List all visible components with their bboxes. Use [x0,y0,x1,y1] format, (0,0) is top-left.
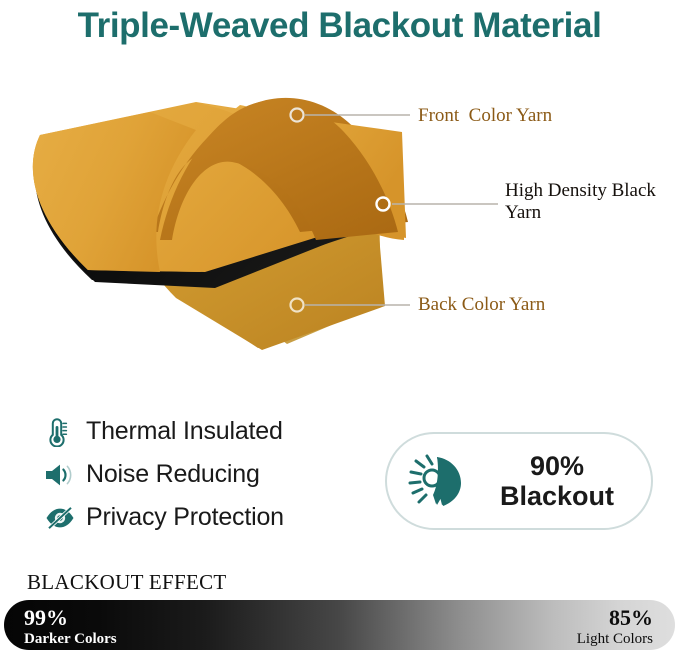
label-front-color-yarn: Front Color Yarn [418,105,552,127]
feature-label-thermal-insulated: Thermal Insulated [86,417,283,446]
feature-privacy-protection: Privacy Protection [44,496,374,539]
sun-blocked-icon [387,450,479,512]
light-colors-percent: 85% [609,605,653,630]
blackout-effect-gradient-bar: 99% Darker Colors 85% Light Colors [4,600,675,650]
blackout-percent: 90% [530,451,584,481]
light-colors-label: Light Colors [577,631,653,647]
blackout-word: Blackout [500,481,614,511]
blackout-effect-heading: BLACKOUT EFFECT [27,570,227,595]
feature-noise-reducing: Noise Reducing [44,453,374,496]
darker-colors-label: Darker Colors [24,631,117,647]
blackout-badge-text: 90% Blackout [479,451,651,512]
page-title: Triple-Weaved Blackout Material [0,0,679,52]
label-high-density-black-yarn: High Density Black Yarn [505,180,665,224]
thermometer-icon [44,415,86,449]
blackout-effect-left: 99% Darker Colors [24,606,117,648]
darker-colors-percent: 99% [24,605,68,630]
blackout-badge: 90% Blackout [385,432,653,530]
label-back-color-yarn: Back Color Yarn [418,294,545,316]
feature-list: Thermal Insulated Noise Reducing Privacy… [44,410,374,539]
feature-label-privacy-protection: Privacy Protection [86,503,284,532]
feature-label-noise-reducing: Noise Reducing [86,460,260,489]
feature-thermal-insulated: Thermal Insulated [44,410,374,453]
eye-slash-icon [44,501,86,535]
fabric-layers-diagram: Front Color Yarn High Density Black Yarn… [0,72,679,362]
page-title-text: Triple-Weaved Blackout Material [78,6,602,46]
blackout-effect-right: 85% Light Colors [577,606,653,648]
speaker-icon [44,458,86,492]
